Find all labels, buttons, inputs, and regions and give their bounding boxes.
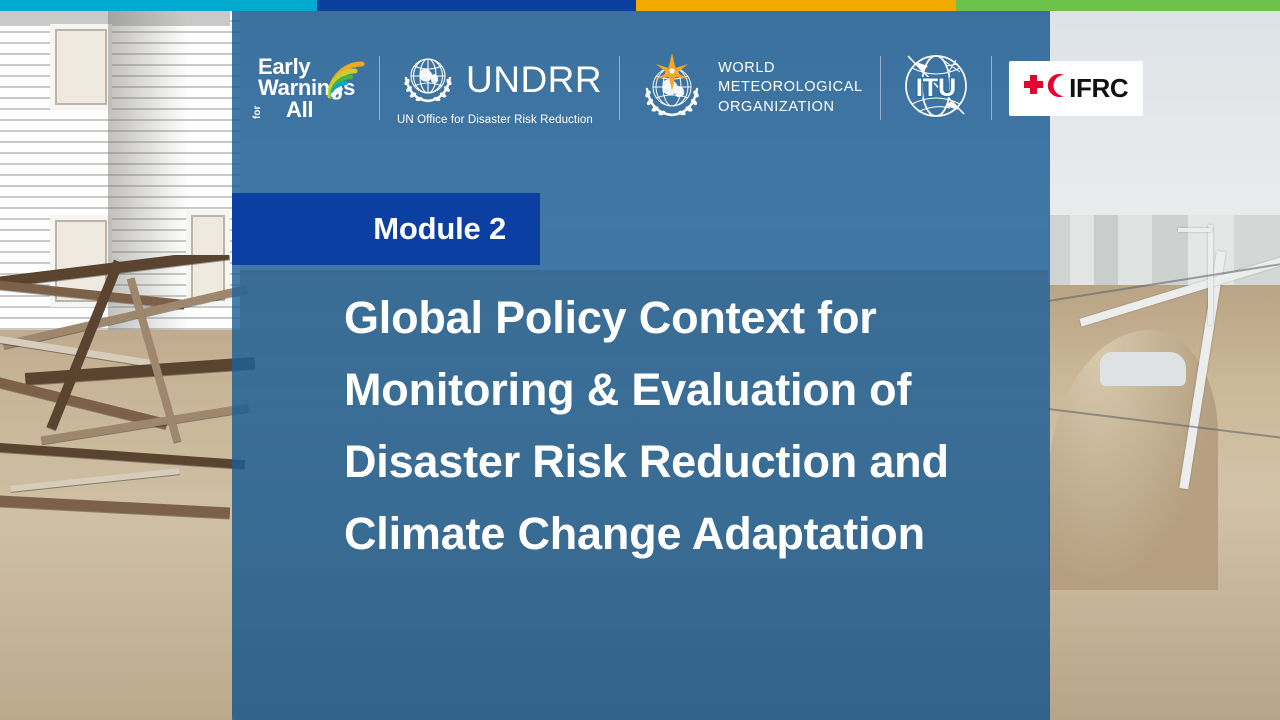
photo-car bbox=[1100, 352, 1186, 386]
ifrc-logo: IFRC bbox=[1009, 61, 1143, 116]
un-globe-laurel-icon bbox=[397, 51, 459, 109]
red-cross-red-crescent-icon bbox=[1023, 73, 1067, 103]
ewfa-line-3: All bbox=[258, 99, 362, 120]
rainbow-signal-arc-icon bbox=[326, 60, 366, 100]
logo-divider bbox=[619, 56, 620, 120]
photo-street-light-arm bbox=[1178, 228, 1212, 232]
undrr-logo: UNDRR UN Office for Disaster Risk Reduct… bbox=[397, 51, 602, 126]
color-bar-segment-orange bbox=[636, 0, 956, 11]
undrr-tagline: UN Office for Disaster Risk Reduction bbox=[397, 114, 602, 126]
wmo-line-1: WORLD bbox=[718, 59, 863, 79]
title-line-4: Climate Change Adaptation bbox=[344, 498, 1012, 570]
title-line-2: Monitoring & Evaluation of bbox=[344, 354, 1012, 426]
logo-divider bbox=[880, 56, 881, 120]
wmo-line-2: METEOROLOGICAL bbox=[718, 78, 863, 98]
presentation-slide: Early Warnings All for bbox=[0, 0, 1280, 720]
itu-globe-arrow-icon: ITU bbox=[898, 48, 974, 124]
svg-text:ITU: ITU bbox=[916, 74, 956, 102]
ifrc-wordmark: IFRC bbox=[1069, 73, 1128, 104]
module-label: Module 2 bbox=[373, 211, 506, 247]
title-line-3: Disaster Risk Reduction and bbox=[344, 426, 1012, 498]
itu-logo: ITU bbox=[898, 48, 974, 129]
logo-divider bbox=[991, 56, 992, 120]
title-line-1: Global Policy Context for bbox=[344, 282, 1012, 354]
module-badge: Module 2 bbox=[232, 193, 540, 265]
wmo-line-3: ORGANIZATION bbox=[718, 98, 863, 118]
color-bar-segment-cyan bbox=[0, 0, 317, 11]
early-warnings-for-all-logo: Early Warnings All for bbox=[258, 56, 362, 119]
color-bar-segment-blue bbox=[317, 0, 636, 11]
wmo-wordmark: WORLD METEOROLOGICAL ORGANIZATION bbox=[718, 59, 863, 118]
slide-title: Global Policy Context for Monitoring & E… bbox=[232, 282, 1050, 570]
wmo-globe-compass-icon bbox=[637, 51, 707, 125]
ewfa-for-word: for bbox=[252, 105, 263, 118]
wmo-logo: WORLD METEOROLOGICAL ORGANIZATION bbox=[637, 51, 863, 125]
logo-divider bbox=[379, 56, 380, 120]
color-bar-segment-green bbox=[956, 0, 1280, 11]
photo-debris-pile bbox=[0, 255, 270, 555]
undrr-wordmark: UNDRR bbox=[466, 61, 602, 98]
photo-house-window bbox=[50, 24, 112, 110]
top-color-bar bbox=[0, 0, 1280, 11]
partner-logo-strip: Early Warnings All for bbox=[232, 36, 1050, 140]
